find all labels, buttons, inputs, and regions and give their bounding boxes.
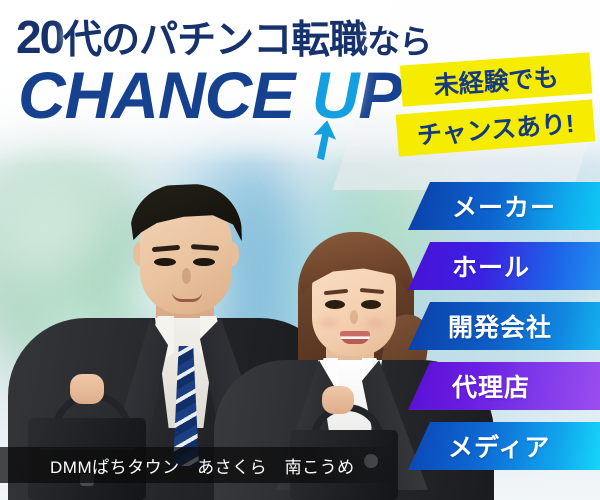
- category-label: ホール: [452, 248, 530, 284]
- category-button-development-company[interactable]: 開発会社: [408, 302, 600, 350]
- category-label: メディア: [448, 428, 550, 464]
- category-label: 代理店: [452, 368, 530, 404]
- category-button-agency[interactable]: 代理店: [408, 362, 600, 410]
- category-list: メーカー ホール 開発会社 代理店 メディア: [0, 0, 600, 500]
- category-button-hall[interactable]: ホール: [408, 242, 600, 290]
- category-button-maker[interactable]: メーカー: [408, 182, 600, 230]
- category-label: メーカー: [452, 188, 556, 224]
- credit-text: DMMぱちタウン あさくら 南こうめ: [50, 453, 355, 478]
- recruitment-banner[interactable]: 20代のパチンコ転職なら CHANCE UP 未経験でも チャンスあり! メーカ…: [0, 0, 600, 500]
- category-label: 開発会社: [448, 308, 552, 344]
- category-button-media[interactable]: メディア: [408, 422, 600, 470]
- credit-bar: DMMぱちタウン あさくら 南こうめ: [0, 447, 400, 483]
